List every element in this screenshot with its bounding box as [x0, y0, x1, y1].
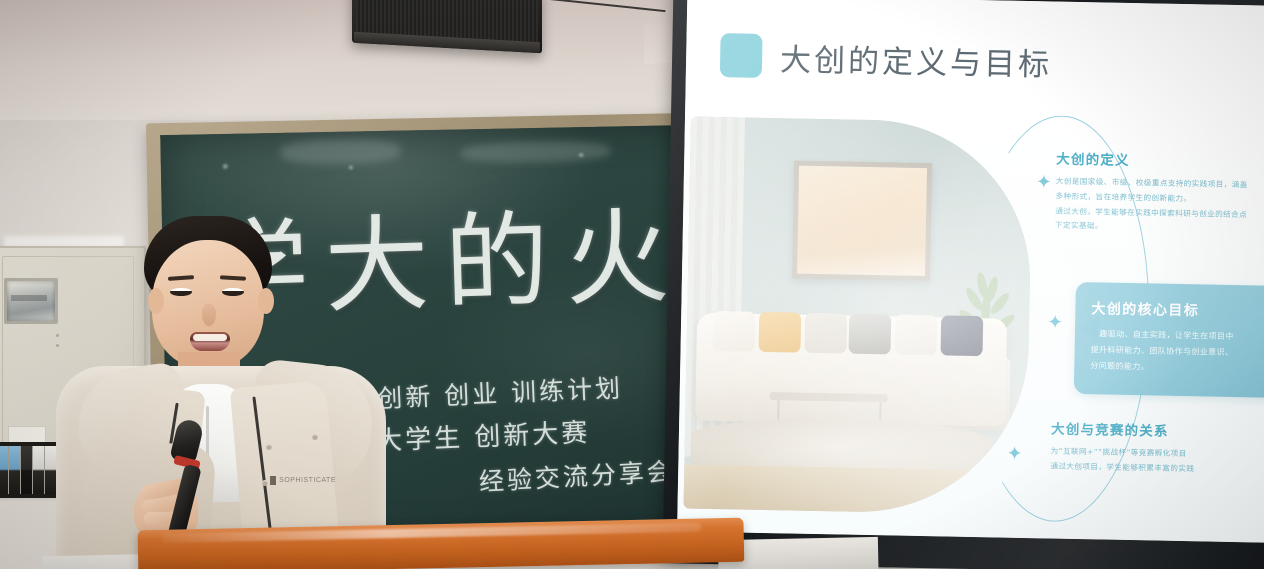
- slide-title: 大创的定义与目标: [780, 34, 1053, 84]
- slide-section-definition: 大创的定义 大创是国家级、市级、校级重点支持的实践项目，涵盖 多种形式，旨在培养…: [1055, 148, 1264, 238]
- breaker-switch[interactable]: [0, 446, 8, 494]
- section-body: 为“互联网+”“挑战杯”等竞赛孵化项目 通过大创项目，学生能够积累丰富的实践: [1050, 445, 1264, 479]
- jacket-brand-label: SOPHISTICATE: [270, 474, 336, 486]
- presenter-mouth: [190, 332, 230, 351]
- sparkle-icon: ✦: [1036, 173, 1052, 192]
- breaker-switch[interactable]: [32, 446, 44, 494]
- chalk-dust: [223, 164, 228, 169]
- chalk-dust: [349, 165, 353, 169]
- jacket-snap-button: [266, 444, 272, 450]
- blackboard-line-3: 经验交流分享会: [478, 452, 676, 499]
- jacket-snap-button: [262, 480, 268, 486]
- section-heading: 大创的定义: [1056, 148, 1264, 172]
- brand-mark-icon: [270, 476, 276, 485]
- chalk-dust: [579, 153, 584, 157]
- brand-text: SOPHISTICATE: [279, 477, 336, 484]
- section-body: 大创是国家级、市级、校级重点支持的实践项目，涵盖 多种形式，旨在培养学生的创新能…: [1055, 175, 1264, 238]
- chalk-smudge: [460, 141, 610, 164]
- presenter-eye: [222, 288, 244, 296]
- projection-screen: 大创的定义与目标: [662, 0, 1264, 569]
- panel-meter-window: [4, 278, 58, 324]
- title-accent-square-icon: [720, 33, 763, 78]
- callout-heading: 大创的核心目标: [1091, 298, 1264, 322]
- sparkle-icon: ✦: [1006, 445, 1022, 464]
- screenshot-scene: 学大的火炬 学生创新 创业 训练计划 国际大学生 创新大赛 经验交流分享会 大创…: [0, 0, 1264, 569]
- jacket-snap-button: [312, 434, 318, 440]
- breaker-switch[interactable]: [20, 446, 32, 494]
- presenter-teeth: [193, 334, 227, 341]
- presenter-ear: [258, 288, 274, 314]
- presenter-eye: [170, 288, 192, 296]
- breaker-switch[interactable]: [44, 446, 56, 494]
- callout-body: 兴趣驱动、自主实践，让学生在项目中 提升科研能力、团队协作与创业意识、 分问题的…: [1090, 326, 1264, 378]
- presenter-ear: [148, 288, 164, 314]
- callout-tail: [1079, 316, 1099, 342]
- presenter-nose: [202, 304, 216, 326]
- presenter: SOPHISTICATE: [56, 216, 386, 569]
- slide-header: 大创的定义与目标: [685, 0, 1264, 126]
- slide-callout-core-goals: 大创的核心目标 兴趣驱动、自主实践，让学生在项目中 提升科研能力、团队协作与创业…: [1074, 282, 1264, 398]
- section-heading: 大创与竞赛的关系: [1051, 418, 1264, 442]
- slide-body: ✦ ✦ ✦ 大创的定义 大创是国家级、市级、校级重点支持的实践项目，涵盖 多种形…: [677, 114, 1264, 542]
- slide-section-competition: 大创与竞赛的关系 为“互联网+”“挑战杯”等竞赛孵化项目 通过大创项目，学生能够…: [1050, 418, 1264, 479]
- breaker-switch[interactable]: [8, 446, 20, 494]
- presentation-slide[interactable]: 大创的定义与目标: [677, 0, 1264, 543]
- sparkle-icon: ✦: [1047, 313, 1063, 332]
- chalk-smudge: [280, 139, 400, 165]
